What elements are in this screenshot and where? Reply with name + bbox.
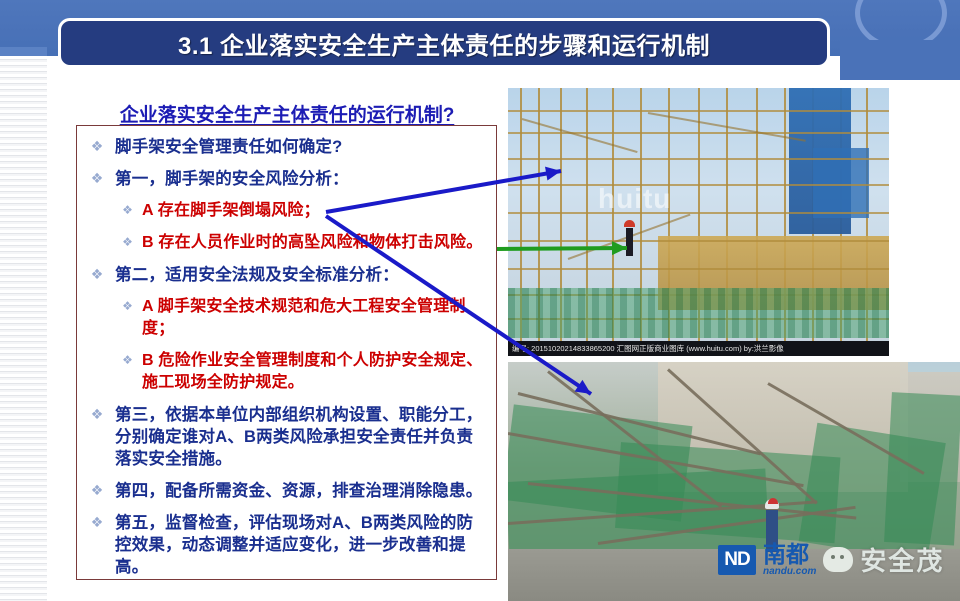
section-subtitle: 企业落实安全生产主体责任的运行机制? [76,100,498,127]
worker-on-scaffold [626,228,633,256]
photo-caption: 编号: 20151020214833865200 汇图网正版商业图库 (www.… [508,341,889,356]
bullet-text: 第四，配备所需资金、资源，排查治理消除隐患。 [115,480,486,502]
diamond-bullet-icon: ❖ [89,136,105,157]
diamond-bullet-icon: ❖ [89,480,105,501]
diamond-bullet-icon: ❖ [121,296,134,317]
nandu-logo-text: 南都 nandu.com [763,542,816,577]
diamond-bullet-icon: ❖ [121,200,134,221]
diamond-bullet-icon: ❖ [89,264,105,285]
nandu-logo-cn: 南都 [763,542,816,566]
diamond-bullet-icon: ❖ [89,512,105,533]
slide-root: 3.1 企业落实安全生产主体责任的步骤和运行机制 企业落实安全生产主体责任的运行… [0,0,960,601]
scaffolding-construction-photo: huitu 编号: 20151020214833865200 汇图网正版商业图库… [508,88,889,356]
bullet-text: 第二，适用安全法规及安全标准分析： [115,264,486,286]
bullet-item: ❖第二，适用安全法规及安全标准分析： [83,264,486,286]
corner-arc-mask [840,40,960,80]
bullet-item: ❖脚手架安全管理责任如何确定? [83,136,486,158]
content-box: ❖脚手架安全管理责任如何确定?❖第一，脚手架的安全风险分析：❖A 存在脚手架倒塌… [76,125,497,580]
bullet-text: B 存在人员作业时的高坠风险和物体打击风险。 [142,232,486,254]
bullet-item: ❖第五，监督检查，评估现场对A、B两类风险的防控效果，动态调整并适应变化，进一步… [83,512,486,578]
bullet-list: ❖脚手架安全管理责任如何确定?❖第一，脚手架的安全风险分析：❖A 存在脚手架倒塌… [83,136,486,578]
diamond-bullet-icon: ❖ [121,350,134,371]
bullet-text: 第三，依据本单位内部组织机构设置、职能分工，分别确定谁对A、B两类风险承担安全责… [115,404,486,470]
bullet-item: ❖B 危险作业安全管理制度和个人防护安全规定、施工现场全防护规定。 [83,350,486,394]
diamond-bullet-icon: ❖ [89,404,105,425]
safety-net [508,288,889,338]
wechat-account-name: 安全茂 [860,541,944,578]
bullet-text: A 存在脚手架倒塌风险； [142,200,486,222]
bullet-item: ❖B 存在人员作业时的高坠风险和物体打击风险。 [83,232,486,254]
nandu-logo-url: nandu.com [763,566,816,577]
bullet-item: ❖第三，依据本单位内部组织机构设置、职能分工，分别确定谁对A、B两类风险承担安全… [83,404,486,470]
bullet-item: ❖A 脚手架安全技术规范和危大工程安全管理制度； [83,296,486,340]
bullet-text: A 脚手架安全技术规范和危大工程安全管理制度； [142,296,486,340]
bullet-item: ❖A 存在脚手架倒塌风险； [83,200,486,222]
bullet-text: 脚手架安全管理责任如何确定? [115,136,486,158]
wechat-icon [823,547,853,572]
bullet-item: ❖第一，脚手架的安全风险分析： [83,168,486,190]
bullet-text: 第五，监督检查，评估现场对A、B两类风险的防控效果，动态调整并适应变化，进一步改… [115,512,486,578]
left-stripes-decoration [0,56,47,601]
brand-watermark: ND 南都 nandu.com 安全茂 [718,541,944,578]
bullet-text: 第一，脚手架的安全风险分析： [115,168,486,190]
bullet-item: ❖第四，配备所需资金、资源，排查治理消除隐患。 [83,480,486,502]
diamond-bullet-icon: ❖ [89,168,105,189]
slide-title-bar: 3.1 企业落实安全生产主体责任的步骤和运行机制 [58,18,830,68]
nandu-logo-mark: ND [718,545,756,575]
diamond-bullet-icon: ❖ [121,232,134,253]
bullet-text: B 危险作业安全管理制度和个人防护安全规定、施工现场全防护规定。 [142,350,486,394]
slide-title: 3.1 企业落实安全生产主体责任的步骤和运行机制 [178,26,710,61]
